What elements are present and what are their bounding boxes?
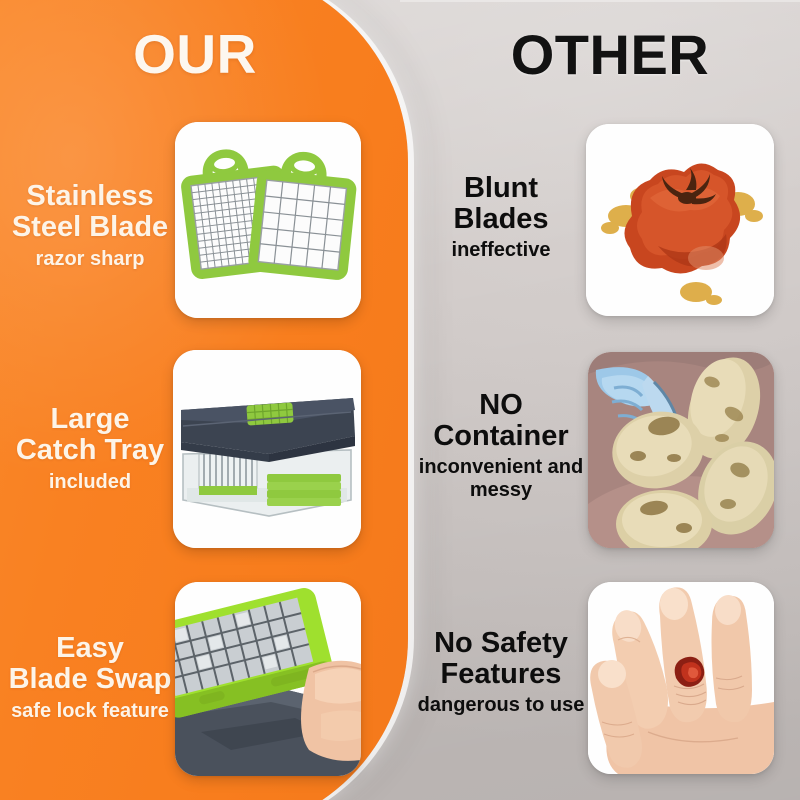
other-row-2-sub-line1: inconvenient and	[412, 456, 590, 478]
other-row-1-headline-line1: Blunt	[412, 173, 590, 204]
our-row-3-headline-line1: Easy	[4, 633, 176, 664]
our-row-1-headline-line2: Steel Blade	[4, 212, 176, 243]
our-row-3-image-card	[175, 582, 361, 776]
other-row-2-copy: NO Container inconvenient and messy	[412, 390, 590, 501]
other-row-3-headline-line1: No Safety	[412, 628, 590, 659]
our-row-1-copy: Stainless Steel Blade razor sharp	[4, 181, 176, 271]
our-column-title: OUR	[0, 22, 390, 86]
our-row-2-sub: included	[4, 471, 176, 493]
our-row-3-headline-line2: Blade Swap	[4, 664, 176, 695]
other-column-title: OTHER	[420, 22, 800, 87]
crushed-mashed-tomato-icon	[586, 124, 774, 316]
other-row-2-sub-line2: messy	[412, 479, 590, 501]
other-row-1-sub: ineffective	[412, 239, 590, 261]
other-row-3-headline-line2: Features	[412, 659, 590, 690]
our-row-1-headline-line1: Stainless	[4, 181, 176, 212]
our-row-2-headline-line2: Catch Tray	[4, 435, 176, 466]
our-row-2-copy: Large Catch Tray included	[4, 404, 176, 494]
other-row-3-copy: No Safety Features dangerous to use	[412, 628, 590, 717]
top-hairline	[400, 0, 800, 2]
hand-swapping-green-blade-cartridge-icon	[175, 582, 361, 776]
other-row-2-headline-line1: NO	[412, 390, 590, 421]
our-row-1-image-card	[175, 122, 361, 318]
comparison-infographic: OUR OTHER Stainless Steel Blade razor sh…	[0, 0, 800, 800]
vegetable-chopper-with-catch-tray-icon	[173, 350, 361, 548]
other-row-2-image-card	[588, 352, 774, 548]
other-row-1-image-card	[586, 124, 774, 316]
cut-injured-finger-icon	[588, 582, 774, 774]
other-row-2-headline-line2: Container	[412, 421, 590, 452]
our-row-3-copy: Easy Blade Swap safe lock feature	[4, 633, 176, 723]
our-row-3-sub: safe lock feature	[4, 700, 176, 722]
our-row-2-headline-line1: Large	[4, 404, 176, 435]
other-row-1-headline-line2: Blades	[412, 204, 590, 235]
other-row-3-image-card	[588, 582, 774, 774]
other-row-1-copy: Blunt Blades ineffective	[412, 173, 590, 262]
other-row-3-sub: dangerous to use	[412, 694, 590, 716]
our-row-2-image-card	[173, 350, 361, 548]
peeler-with-loose-potatoes-icon	[588, 352, 774, 548]
stainless-steel-blade-inserts-icon	[175, 122, 361, 318]
our-row-1-sub: razor sharp	[4, 248, 176, 270]
